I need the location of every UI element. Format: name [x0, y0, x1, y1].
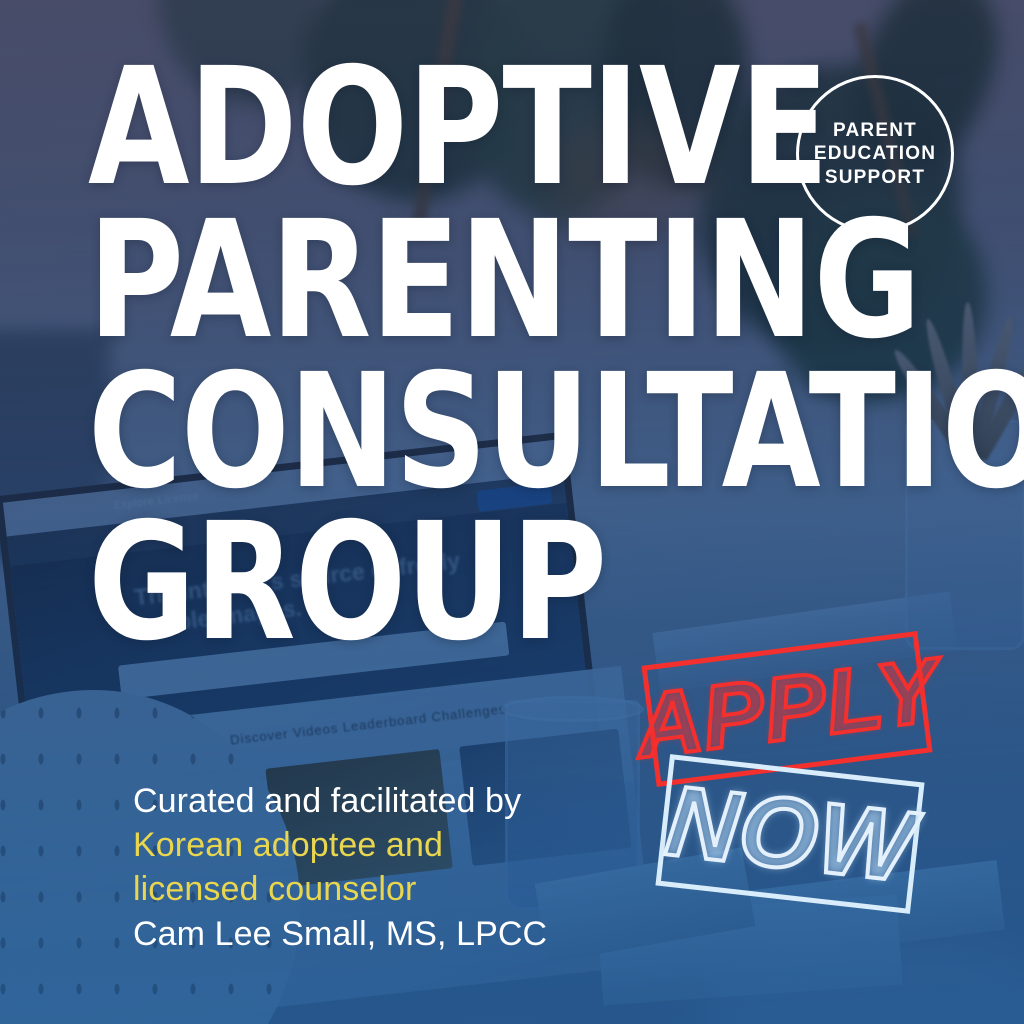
- headline-line-1: ADOPTIVE: [88, 52, 862, 205]
- headline-line-2: PARENTING: [88, 205, 862, 358]
- poster-canvas: Explore License The internet's source of…: [0, 0, 1024, 1024]
- parent-education-support-badge: PARENT EDUCATION SUPPORT: [796, 75, 954, 233]
- caption-line-3: licensed counselor: [133, 867, 547, 911]
- badge-line-2: EDUCATION: [814, 142, 936, 165]
- badge-line-3: SUPPORT: [825, 166, 925, 189]
- caption-line-1: Curated and facilitated by: [133, 779, 547, 823]
- facilitator-caption: Curated and facilitated by Korean adopte…: [133, 779, 547, 956]
- now-stamp-label: NOW: [662, 771, 919, 898]
- headline-line-4: GROUP: [88, 507, 862, 660]
- caption-line-2: Korean adoptee and: [133, 823, 547, 867]
- caption-line-4: Cam Lee Small, MS, LPCC: [133, 912, 547, 956]
- poster-content: ADOPTIVE PARENTING CONSULTATION GROUP PA…: [0, 0, 1024, 1024]
- badge-line-1: PARENT: [833, 119, 917, 142]
- apply-stamp-label: APPLY: [630, 645, 943, 772]
- now-stamp[interactable]: NOW: [655, 754, 924, 914]
- headline-line-3: CONSULTATION: [88, 358, 862, 507]
